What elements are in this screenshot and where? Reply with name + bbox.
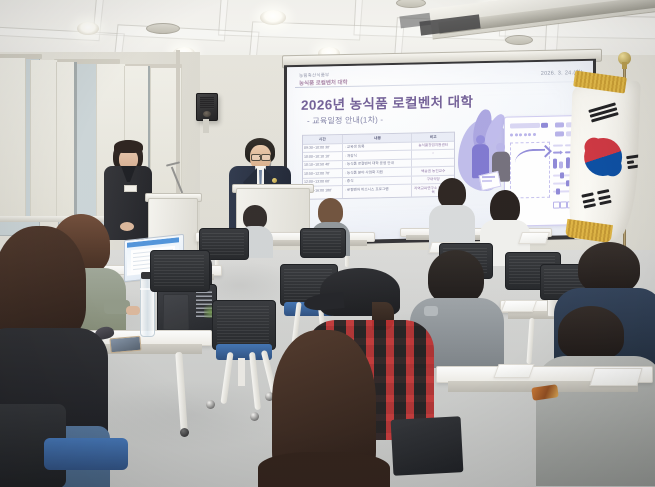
table-row: 13:00~16:00 180' · 로컬벤처 비즈니스 프로그램 지역교육연구…: [303, 184, 454, 199]
seminar-room-photo: 농림축산식품부 농식품 로컬벤처 대학 2026. 3. 24.(화) 2026…: [0, 0, 655, 487]
staff-woman-hands: [120, 222, 134, 231]
trigram-geon: [588, 102, 619, 123]
slide-schedule-table: 시간 내용 비고 09:30~10:00 30' · 교육생 등록 농식품창업지…: [302, 132, 455, 200]
slide-subtitle: - 교육일정 안내(1차) -: [307, 114, 383, 127]
handout-paper: [518, 232, 550, 244]
handout-paper: [589, 368, 642, 386]
taeguk-symbol: [583, 137, 622, 176]
speaker-icon: [196, 93, 218, 121]
presenter-lapel-pin: [272, 178, 277, 183]
window-mullion: [74, 62, 77, 218]
chair-caster: [250, 412, 259, 421]
ceiling-downlight: [77, 22, 99, 35]
roller-blind: [30, 60, 58, 220]
smartphone[interactable]: [109, 336, 141, 354]
slide-title: 2026년 농식품 로컬벤처 대학: [301, 90, 473, 114]
desk-caster: [180, 428, 189, 437]
roller-blind: [0, 58, 26, 222]
handout-paper: [493, 364, 534, 378]
tablet[interactable]: [391, 416, 464, 476]
flag-finial-stem: [622, 62, 627, 69]
ceiling-downlight: [260, 10, 286, 25]
chair-seat: [44, 438, 128, 470]
speaker-bracket: [203, 119, 209, 133]
korean-flag: [567, 79, 641, 241]
presenter-glasses-right: [261, 154, 271, 161]
staff-woman-hair-front: [114, 140, 143, 153]
trigram-gon: [581, 189, 612, 209]
chair-caster: [206, 400, 215, 409]
ceiling-vent: [505, 35, 533, 45]
roller-blind: [56, 62, 76, 218]
ceiling-vent: [146, 23, 180, 34]
presenter-glasses-bridge: [259, 156, 262, 157]
staff-woman-name-tag: [124, 185, 137, 192]
handout-paper: [501, 300, 537, 312]
